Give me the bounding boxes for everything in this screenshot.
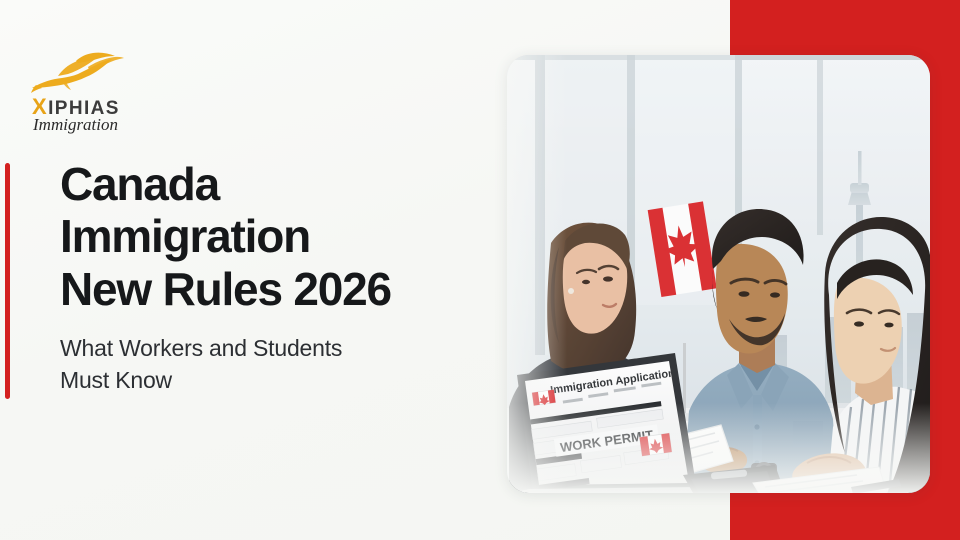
page-subtitle: What Workers and Students Must Know (60, 333, 490, 396)
hero-photo: Immigration Application (507, 55, 930, 493)
brand-logo[interactable]: XIPHIAS Immigration (22, 52, 152, 138)
page-title: Canada Immigration New Rules 2026 (60, 158, 490, 315)
red-accent-bar (5, 163, 10, 399)
hero-copy: Canada Immigration New Rules 2026 What W… (60, 158, 490, 397)
promo-banner: XIPHIAS Immigration Canada Immigration N… (0, 0, 960, 540)
brand-tagline: Immigration (33, 116, 118, 133)
